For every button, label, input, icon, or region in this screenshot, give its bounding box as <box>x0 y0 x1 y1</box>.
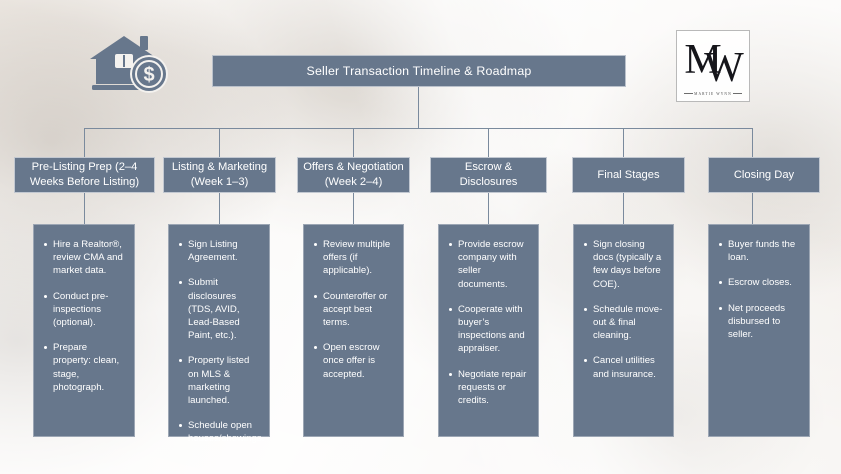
svg-text:W: W <box>704 45 744 85</box>
connector-drop-2 <box>219 128 220 157</box>
list-item: Hire a Realtor®, review CMA and market d… <box>43 238 125 278</box>
list-item-text: Negotiate repair requests or credits. <box>458 369 526 406</box>
connector-header-body-3 <box>353 193 354 224</box>
stage-body-4-list: Provide escrow company with seller docum… <box>448 238 529 407</box>
seller-transaction-roadmap-diagram: $ M W MARTIE WYNN Seller Transaction Tim… <box>0 0 841 474</box>
stage-header-2[interactable]: Listing & Marketing (Week 1–3) <box>163 157 276 193</box>
brand-logo: M W MARTIE WYNN <box>676 30 750 102</box>
connector-header-body-2 <box>219 193 220 224</box>
stage-body-5-list: Sign closing docs (typically a few days … <box>583 238 664 381</box>
connector-title-drop <box>418 87 419 128</box>
list-item: Prepare property: clean, stage, photogra… <box>43 341 125 394</box>
svg-text:$: $ <box>143 64 154 86</box>
list-item: Cancel utilities and insurance. <box>583 354 664 380</box>
list-item-text: Net proceeds disbursed to seller. <box>728 303 785 340</box>
list-item-text: Schedule move-out & final cleaning. <box>593 304 662 341</box>
stage-header-5[interactable]: Final Stages <box>572 157 685 193</box>
list-item: Escrow closes. <box>718 276 800 289</box>
house-with-dollar-coin-icon: $ <box>88 28 172 98</box>
list-item-text: Conduct pre-inspections (optional). <box>53 291 108 328</box>
stage-body-3[interactable]: Review multiple offers (if applicable). … <box>303 224 404 437</box>
list-item: Counteroffer or accept best terms. <box>313 290 394 330</box>
stage-body-1-list: Hire a Realtor®, review CMA and market d… <box>43 238 125 394</box>
list-item-text: Review multiple offers (if applicable). <box>323 239 390 276</box>
list-item: Sign closing docs (typically a few days … <box>583 238 664 291</box>
connector-header-body-1 <box>84 193 85 224</box>
brand-subtitle: MARTIE WYNN <box>677 92 749 96</box>
list-item: Provide escrow company with seller docum… <box>448 238 529 291</box>
list-item: Schedule move-out & final cleaning. <box>583 303 664 343</box>
stage-header-6[interactable]: Closing Day <box>708 157 820 193</box>
connector-drop-6 <box>752 128 753 157</box>
list-item-text: Cancel utilities and insurance. <box>593 355 656 379</box>
list-item: Net proceeds disbursed to seller. <box>718 302 800 342</box>
stage-body-1[interactable]: Hire a Realtor®, review CMA and market d… <box>33 224 135 437</box>
stage-body-5[interactable]: Sign closing docs (typically a few days … <box>573 224 674 437</box>
list-item: Sign Listing Agreement. <box>178 238 260 264</box>
list-item-text: Hire a Realtor®, review CMA and market d… <box>53 239 123 276</box>
list-item-text: Schedule open houses/showings. <box>188 420 264 444</box>
stage-header-4[interactable]: Escrow & Disclosures <box>430 157 547 193</box>
stage-body-3-list: Review multiple offers (if applicable). … <box>313 238 394 381</box>
list-item-text: Buyer funds the loan. <box>728 239 795 263</box>
connector-drop-4 <box>488 128 489 157</box>
connector-header-body-6 <box>752 193 753 224</box>
stage-body-2-list: Sign Listing Agreement. Submit disclosur… <box>178 238 260 446</box>
list-item: Buyer funds the loan. <box>718 238 800 264</box>
stage-body-6-list: Buyer funds the loan. Escrow closes. Net… <box>718 238 800 341</box>
stage-body-6[interactable]: Buyer funds the loan. Escrow closes. Net… <box>708 224 810 437</box>
connector-header-body-5 <box>623 193 624 224</box>
list-item-text: Prepare property: clean, stage, photogra… <box>53 342 119 393</box>
connector-drop-5 <box>623 128 624 157</box>
list-item-text: Escrow closes. <box>728 277 792 288</box>
connector-bus <box>84 128 752 129</box>
stage-header-3[interactable]: Offers & Negotiation (Week 2–4) <box>297 157 410 193</box>
list-item-text: Sign closing docs (typically a few days … <box>593 239 661 290</box>
stage-header-1[interactable]: Pre-Listing Prep (2–4 Weeks Before Listi… <box>14 157 155 193</box>
list-item: Property listed on MLS & marketing launc… <box>178 354 260 407</box>
mw-monogram-icon: M W <box>677 37 751 85</box>
list-item: Schedule open houses/showings. <box>178 419 260 445</box>
list-item: Cooperate with buyer’s inspections and a… <box>448 303 529 356</box>
list-item: Conduct pre-inspections (optional). <box>43 290 125 330</box>
stage-header-1-label: Pre-Listing Prep (2–4 Weeks Before Listi… <box>20 160 149 190</box>
stage-header-3-label: Offers & Negotiation (Week 2–4) <box>303 160 404 190</box>
list-item-text: Provide escrow company with seller docum… <box>458 239 524 290</box>
stage-header-4-label: Escrow & Disclosures <box>436 160 541 190</box>
list-item: Open escrow once offer is accepted. <box>313 341 394 381</box>
list-item-text: Open escrow once offer is accepted. <box>323 342 380 379</box>
diagram-title-text: Seller Transaction Timeline & Roadmap <box>306 64 531 78</box>
list-item-text: Cooperate with buyer’s inspections and a… <box>458 304 525 355</box>
list-item: Review multiple offers (if applicable). <box>313 238 394 278</box>
list-item-text: Submit disclosures (TDS, AVID, Lead-Base… <box>188 277 240 341</box>
list-item-text: Sign Listing Agreement. <box>188 239 238 263</box>
list-item-text: Property listed on MLS & marketing launc… <box>188 355 249 406</box>
list-item-text: Counteroffer or accept best terms. <box>323 291 387 328</box>
stage-header-5-label: Final Stages <box>597 168 659 183</box>
list-item: Negotiate repair requests or credits. <box>448 368 529 408</box>
connector-drop-1 <box>84 128 85 157</box>
stage-header-2-label: Listing & Marketing (Week 1–3) <box>169 160 270 190</box>
stage-body-4[interactable]: Provide escrow company with seller docum… <box>438 224 539 437</box>
connector-drop-3 <box>353 128 354 157</box>
diagram-title: Seller Transaction Timeline & Roadmap <box>212 55 626 87</box>
list-item: Submit disclosures (TDS, AVID, Lead-Base… <box>178 276 260 342</box>
stage-header-6-label: Closing Day <box>734 168 794 183</box>
connector-header-body-4 <box>488 193 489 224</box>
stage-body-2[interactable]: Sign Listing Agreement. Submit disclosur… <box>168 224 270 437</box>
